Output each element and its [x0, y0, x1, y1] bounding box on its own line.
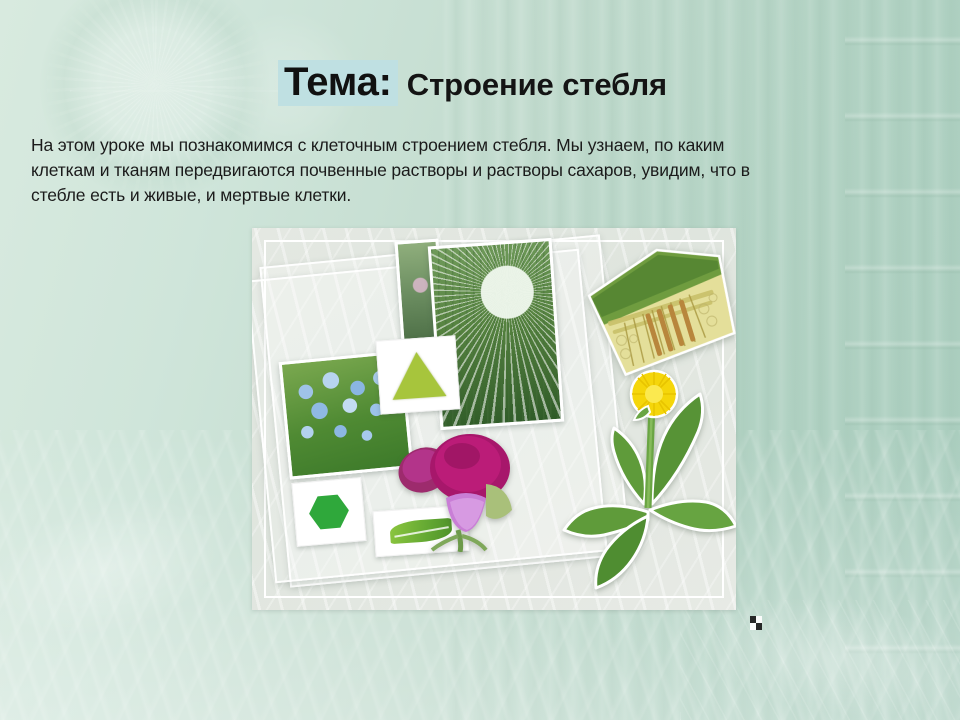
paragraph-line-1: На этом уроке мы познакомимся с клеточны… — [31, 133, 931, 158]
triangle-leaf-icon — [389, 350, 446, 400]
slide-title: Тема: Строение стебля — [278, 60, 667, 106]
triangle-leaf-card — [376, 335, 461, 414]
title-subject: Строение стебля — [407, 69, 667, 101]
hexagon-leaf-card — [291, 477, 366, 547]
background-bamboo-nodes — [845, 0, 960, 720]
sweet-pea-flower-icon — [388, 424, 524, 552]
background-leaf-veins — [680, 600, 960, 720]
lesson-intro-paragraph: На этом уроке мы познакомимся с клеточны… — [31, 133, 931, 208]
dandelion-plant-icon — [552, 348, 736, 598]
photo-collage — [252, 228, 736, 610]
title-keyword-highlight: Тема: — [278, 60, 398, 106]
slide-canvas: Тема: Строение стебля На этом уроке мы п… — [0, 0, 960, 720]
hexagon-leaf-icon — [308, 492, 351, 531]
paragraph-line-3: стебле есть и живые, и мертвые клетки. — [31, 183, 931, 208]
missing-glyph-artifact — [750, 616, 762, 630]
paragraph-line-2: клеткам и тканям передвигаются почвенные… — [31, 158, 931, 183]
